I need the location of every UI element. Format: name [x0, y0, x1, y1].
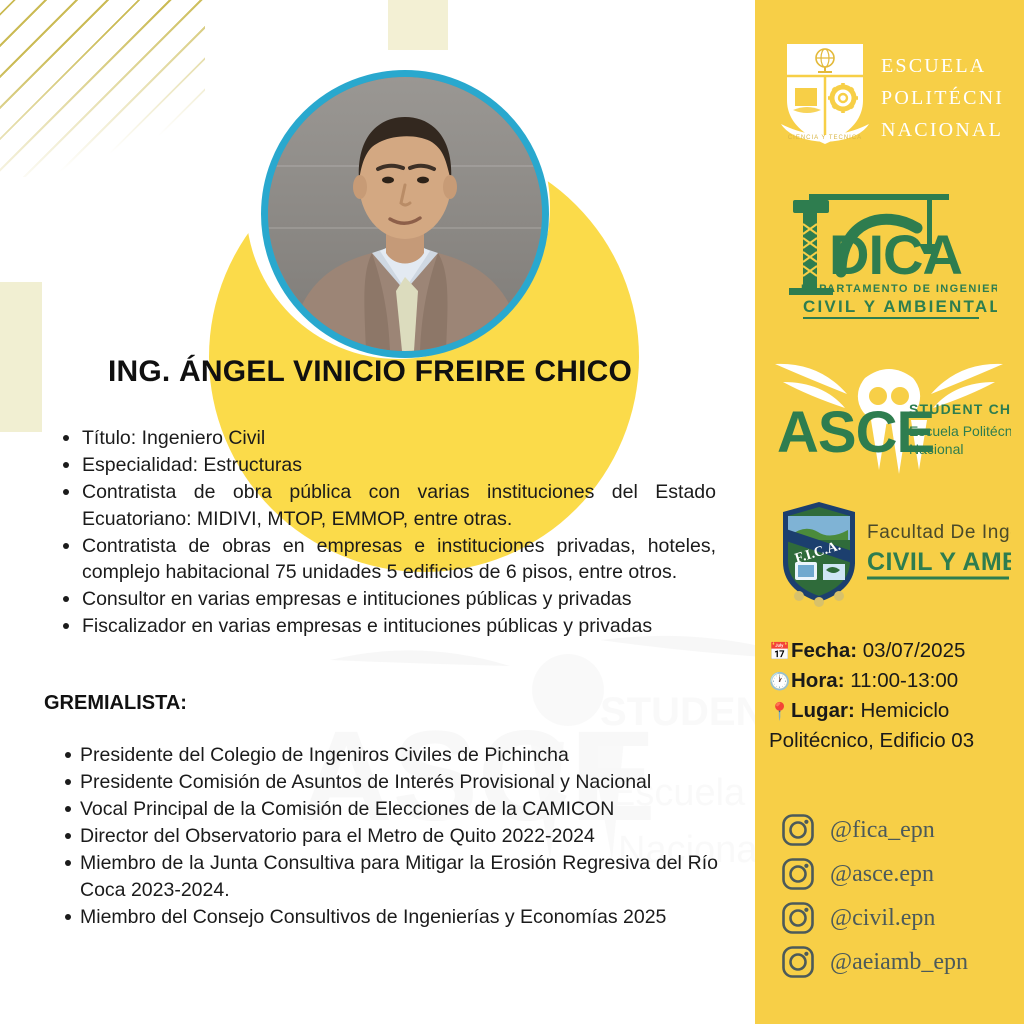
epn-line2: POLITÉCNICA [881, 86, 1002, 109]
asce-line3: Nacional [909, 441, 963, 457]
event-details: 📅Fecha: 03/07/2025 🕐Hora: 11:00-13:00 📍L… [769, 636, 1017, 755]
dica-logo: DICA DEPARTAMENTO DE INGENIERÍA CIVIL Y … [779, 188, 997, 324]
list-item: Título: Ingeniero Civil [78, 425, 716, 451]
list-item: Director del Observatorio para el Metro … [80, 823, 718, 850]
list-item: Miembro de la Junta Consultiva para Miti… [80, 850, 718, 904]
social-item-civil[interactable]: @civil.epn [781, 896, 1021, 940]
list-item: Consultor en varias empresas e intitucio… [78, 586, 716, 612]
event-date-label: Fecha: [791, 639, 857, 662]
list-item: Miembro del Consejo Consultivos de Ingen… [80, 904, 718, 931]
photo-image [268, 77, 542, 351]
asce-line1: STUDENT CHAPTER [909, 401, 1011, 417]
dica-line2: CIVIL Y AMBIENTAL [803, 297, 997, 316]
event-place-value: Hemiciclo [860, 699, 949, 722]
instagram-icon [781, 857, 815, 891]
clock-icon: 🕐 [769, 667, 791, 696]
epn-motto: CIENCIA Y TECNICA [788, 135, 862, 141]
event-time-label: Hora: [791, 669, 845, 692]
calendar-icon: 📅 [769, 637, 791, 666]
event-time-value: 11:00-13:00 [850, 669, 958, 692]
page-title: ING. ÁNGEL VINICIO FREIRE CHICO [0, 355, 740, 389]
photo-blue-ring [261, 70, 549, 358]
list-item: Vocal Principal de la Comisión de Elecci… [80, 796, 718, 823]
speaker-photo [253, 62, 543, 352]
social-item-fica[interactable]: @fica_epn [781, 808, 1021, 852]
event-place-value-2: Politécnico, Edificio 03 [769, 729, 974, 752]
dica-line1: DEPARTAMENTO DE INGENIERÍA [801, 282, 997, 295]
instagram-icon [781, 945, 815, 979]
fica-line1: Facultad De Ingeniería [867, 522, 1011, 543]
list-item: Contratista de obra pública con varias i… [78, 479, 716, 531]
event-date-value: 03/07/2025 [863, 639, 966, 662]
social-handle: @asce.epn [830, 861, 934, 888]
asce-line2: Escuela Politécnica [909, 423, 1011, 439]
fica-logo: F.I.C.A. Facultad De Ingeniería CIVIL Y … [771, 498, 1011, 610]
escuela-politecnica-nacional-logo: CIENCIA Y TECNICA ESCUELA POLITÉCNICA NA… [777, 38, 1002, 156]
asce-student-chapter-logo: ASCE STUDENT CHAPTER Escuela Politécnica… [767, 348, 1011, 476]
social-links: @fica_epn @asce.epn @civil.epn @aeiamb_e… [781, 808, 1021, 984]
profile-bullet-list: Título: Ingeniero Civil Especialidad: Es… [56, 425, 716, 641]
fica-line2: CIVIL Y AMBIENTAL [867, 548, 1011, 576]
event-time-row: 🕐Hora: 11:00-13:00 [769, 666, 1017, 696]
event-date-row: 📅Fecha: 03/07/2025 [769, 636, 1017, 666]
epn-line3: NACIONAL [881, 119, 1002, 141]
gremialista-bullet-list: Presidente del Colegio de Ingeniros Civi… [58, 742, 718, 931]
instagram-icon [781, 901, 815, 935]
social-handle: @civil.epn [830, 905, 935, 932]
event-place-row: 📍Lugar: Hemiciclo Politécnico, Edificio … [769, 696, 1017, 755]
social-item-asce[interactable]: @asce.epn [781, 852, 1021, 896]
list-item: Presidente del Colegio de Ingeniros Civi… [80, 742, 718, 769]
instagram-icon [781, 813, 815, 847]
cream-rectangle-top-decoration [388, 0, 448, 50]
location-pin-icon: 📍 [769, 697, 791, 726]
list-item: Especialidad: Estructuras [78, 452, 716, 478]
list-item: Presidente Comisión de Asuntos de Interé… [80, 769, 718, 796]
diagonal-hatch-decoration [0, 0, 205, 177]
sidebar: CIENCIA Y TECNICA ESCUELA POLITÉCNICA NA… [755, 0, 1024, 1024]
social-handle: @aeiamb_epn [830, 949, 968, 976]
list-item: Fiscalizador en varias empresas e intitu… [78, 613, 716, 639]
event-poster: ASCE STUDENT CHA Escuela Politéc Naciona… [0, 0, 1024, 1024]
gremialista-heading: GREMIALISTA: [44, 692, 187, 715]
dica-acronym: DICA [829, 223, 962, 286]
event-place-label: Lugar: [791, 699, 855, 722]
social-handle: @fica_epn [830, 817, 935, 844]
social-item-aeiamb[interactable]: @aeiamb_epn [781, 940, 1021, 984]
list-item: Contratista de obras en empresas e insti… [78, 533, 716, 585]
epn-line1: ESCUELA [881, 55, 986, 77]
